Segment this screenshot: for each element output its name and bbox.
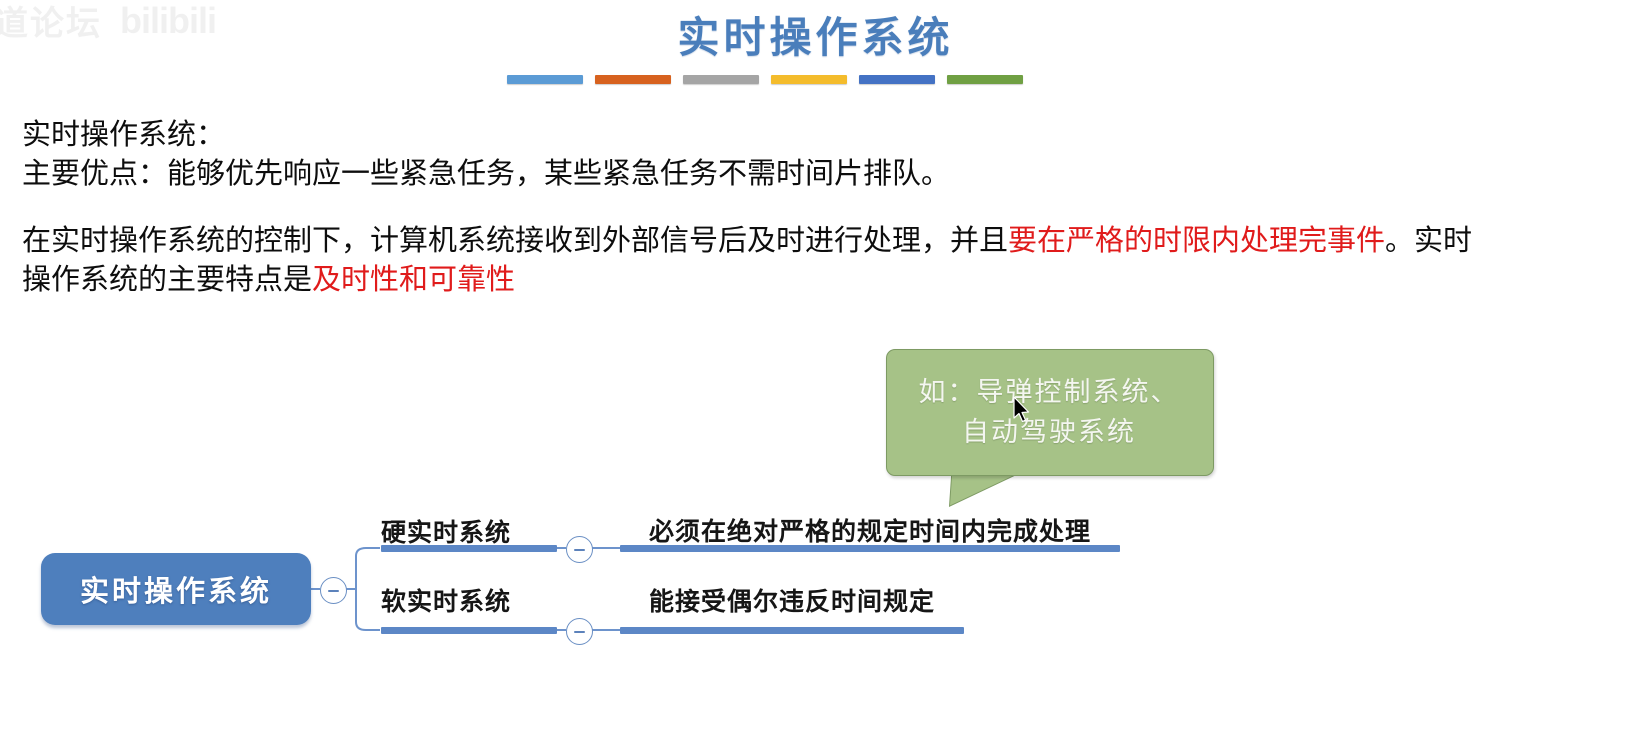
mindmap-leaf-underline-soft	[620, 627, 964, 634]
mindmap-leaf-underline-hard	[620, 545, 1120, 552]
body-paragraph-2: 在实时操作系统的控制下，计算机系统接收到外部信号后及时进行处理，并且要在严格的时…	[22, 222, 1492, 300]
mindmap-branch-label-soft[interactable]: 软实时系统	[381, 582, 511, 618]
title-bar-yellow	[771, 75, 847, 84]
mindmap-root-label: 实时操作系统	[80, 568, 272, 610]
body-paragraph-2-segment-1: 在实时操作系统的控制下，计算机系统接收到外部信号后及时进行处理，并且	[22, 225, 1008, 257]
body-line-2: 主要优点：能够优先响应一些紧急任务，某些紧急任务不需时间片排队。	[22, 155, 1492, 194]
mindmap-branch-underline-soft	[381, 627, 557, 634]
page-title-text: 实时操作系统	[0, 16, 1631, 62]
callout-line-1: 如：导弹控制系统、	[919, 372, 1180, 412]
title-bar-darkblue	[859, 75, 935, 84]
title-bar-orange	[595, 75, 671, 84]
title-bar-gray	[683, 75, 759, 84]
mindmap-leaf-label-hard[interactable]: 必须在绝对严格的规定时间内完成处理	[649, 512, 1091, 548]
callout-line-2: 自动驾驶系统	[962, 412, 1136, 452]
body-paragraph-2-highlight-2: 及时性和可靠性	[312, 264, 515, 296]
mindmap-branch-label-hard[interactable]: 硬实时系统	[381, 513, 511, 549]
title-decoration-bars	[507, 75, 1023, 84]
mouse-cursor-icon	[1012, 396, 1032, 426]
title-bar-blue	[507, 75, 583, 84]
slide-canvas: 道论坛 bilibili 实时操作系统 实时操作系统： 主要优点：能够优先响应一…	[0, 0, 1631, 751]
body-line-1: 实时操作系统：	[22, 116, 1492, 155]
title-bar-green	[947, 75, 1023, 84]
mindmap-branch-underline-hard	[381, 545, 557, 552]
mindmap-root-node[interactable]: 实时操作系统	[41, 553, 311, 625]
minus-circle-icon-root[interactable]	[320, 577, 347, 604]
page-title: 实时操作系统	[0, 16, 1631, 62]
callout-text: 如：导弹控制系统、 自动驾驶系统	[886, 349, 1212, 474]
minus-circle-icon-hard[interactable]	[566, 536, 593, 563]
body-paragraph-2-highlight-1: 要在严格的时限内处理完事件	[1008, 225, 1385, 257]
minus-circle-icon-soft[interactable]	[566, 618, 593, 645]
mindmap-leaf-label-soft[interactable]: 能接受偶尔违反时间规定	[649, 582, 935, 618]
mindmap: 实时操作系统 硬实时系统 必须在绝对严格的规定时间内完成处理 软实时系统 能接受…	[0, 490, 1631, 660]
body-text-block: 实时操作系统： 主要优点：能够优先响应一些紧急任务，某些紧急任务不需时间片排队。…	[22, 116, 1492, 300]
